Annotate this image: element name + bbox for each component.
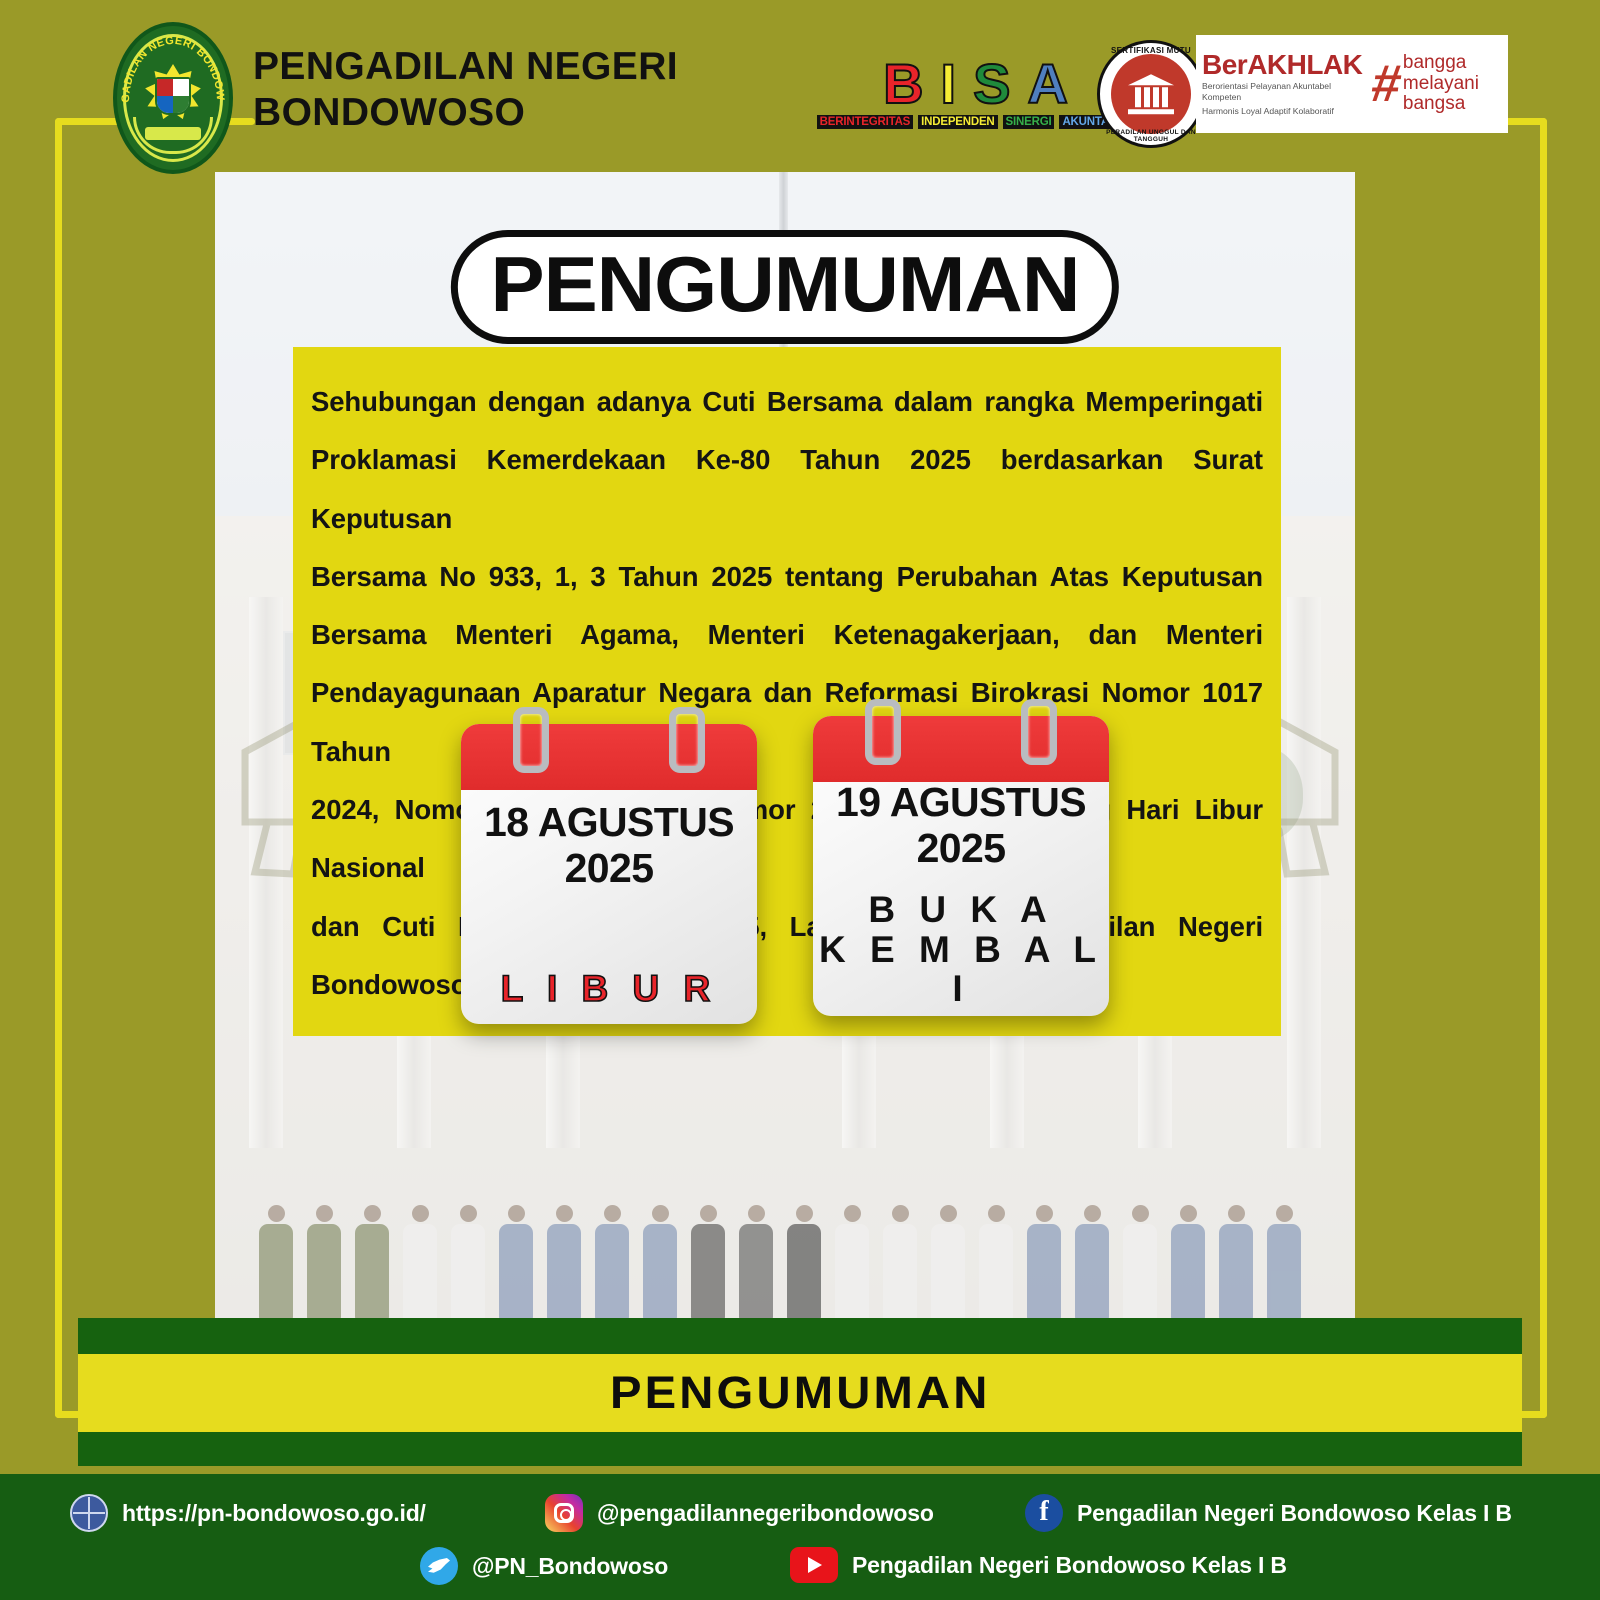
frame-edge-left <box>55 118 62 1418</box>
youtube-name: Pengadilan Negeri Bondowoso Kelas I B <box>852 1552 1287 1579</box>
banner-label: PENGUMUMAN <box>610 1367 991 1419</box>
bottom-banner: PENGUMUMAN <box>78 1318 1522 1466</box>
page-title: PENGADILAN NEGERI BONDOWOSO <box>253 44 678 135</box>
facebook-icon: f <box>1025 1494 1063 1532</box>
bisa-letter-a: A <box>1027 56 1067 112</box>
footer-youtube[interactable]: Pengadilan Negeri Bondowoso Kelas I B <box>790 1547 1287 1583</box>
social-footer: https://pn-bondowoso.go.id/ @pengadilann… <box>0 1474 1600 1600</box>
facebook-name: Pengadilan Negeri Bondowoso Kelas I B <box>1077 1500 1512 1527</box>
calendar-header-red <box>461 724 757 790</box>
org-name-line2: BONDOWOSO <box>253 90 678 136</box>
footer-twitter[interactable]: @PN_Bondowoso <box>420 1547 668 1585</box>
berakhlak-title: BerAKHLAK <box>1202 51 1372 79</box>
twitter-icon <box>420 1547 458 1585</box>
berakhlak-tagline2: melayani <box>1403 74 1479 95</box>
courthouse-icon <box>1128 74 1174 112</box>
calendar-group: 18 AGUSTUS 2025 L I B U R 19 AGUSTUS 202… <box>215 724 1355 1054</box>
footer-facebook[interactable]: f Pengadilan Negeri Bondowoso Kelas I B <box>1025 1494 1512 1532</box>
berakhlak-tagline1: bangga <box>1403 53 1479 74</box>
calendar-2-status-line1: B U K A <box>813 890 1109 929</box>
instagram-icon <box>545 1494 583 1532</box>
twitter-handle: @PN_Bondowoso <box>472 1553 668 1580</box>
bisa-letter-i: I <box>941 56 957 112</box>
bisa-value-independen: INDEPENDEN <box>918 115 997 129</box>
footer-instagram[interactable]: @pengadilannegeribondowoso <box>545 1494 934 1532</box>
court-crest-icon: PENGADILAN NEGERI BONDOWOSO <box>113 22 233 174</box>
berakhlak-logo: BerAKHLAK Berorientasi Pelayanan Akuntab… <box>1196 35 1508 133</box>
bisa-value-sinergi: SINERGI <box>1003 115 1055 129</box>
calendar-ring-right-icon <box>669 707 705 773</box>
website-url: https://pn-bondowoso.go.id/ <box>122 1500 426 1527</box>
youtube-icon <box>790 1547 838 1583</box>
body-line-2: Proklamasi Kemerdekaan Ke-80 Tahun 2025 … <box>311 431 1263 548</box>
calendar-card-libur: 18 AGUSTUS 2025 L I B U R <box>461 724 757 1024</box>
frame-edge-right <box>1540 118 1547 1418</box>
sertifikasi-mutu-logo: SERTIFIKASI MUTU PERADILAN UNGGUL DAN TA… <box>1097 40 1205 148</box>
globe-icon <box>70 1494 108 1532</box>
calendar-ring-left-icon <box>513 707 549 773</box>
announcement-title-pill: PENGUMUMAN <box>451 230 1119 344</box>
body-line-3: Bersama No 933, 1, 3 Tahun 2025 tentang … <box>311 548 1263 606</box>
banner-label-bar: PENGUMUMAN <box>78 1354 1522 1432</box>
bisa-value-berintegritas: BERINTEGRITAS <box>817 115 913 129</box>
body-line-1: Sehubungan dengan adanya Cuti Bersama da… <box>311 373 1263 431</box>
calendar-ring-left-icon <box>865 699 901 765</box>
calendar-ring-right-icon <box>1021 699 1057 765</box>
calendar-2-year: 2025 <box>813 826 1109 872</box>
bisa-letter-b: B <box>883 56 923 112</box>
calendar-1-date: 18 AGUSTUS <box>461 800 757 846</box>
berakhlak-sub2: Harmonis Loyal Adaptif Kolaboratif <box>1202 106 1372 118</box>
page-header: PENGADILAN NEGERI BONDOWOSO PENGADILAN N… <box>0 0 1600 172</box>
calendar-header-red <box>813 716 1109 782</box>
body-line-4: Bersama Menteri Agama, Menteri Ketenagak… <box>311 606 1263 664</box>
calendar-2-date: 19 AGUSTUS <box>813 780 1109 826</box>
sertifikasi-bottom-text: PERADILAN UNGGUL DAN TANGGUH <box>1097 129 1205 143</box>
calendar-2-status-line2: K E M B A L I <box>813 930 1109 1008</box>
calendar-card-buka-kembali: 19 AGUSTUS 2025 B U K A K E M B A L I <box>813 716 1109 1016</box>
org-name-line1: PENGADILAN NEGERI <box>253 44 678 90</box>
staff-group-photo <box>215 1090 1355 1320</box>
footer-website[interactable]: https://pn-bondowoso.go.id/ <box>70 1494 426 1532</box>
berakhlak-tagline3: bangsa <box>1403 94 1479 115</box>
bisa-logo: B I S A BERINTEGRITAS INDEPENDEN SINERGI… <box>868 56 1083 129</box>
banner-stripe-bottom <box>78 1432 1522 1466</box>
calendar-1-status: L I B U R <box>461 969 757 1008</box>
instagram-handle: @pengadilannegeribondowoso <box>597 1500 934 1527</box>
bisa-letter-s: S <box>973 56 1010 112</box>
calendar-1-year: 2025 <box>461 846 757 892</box>
sertifikasi-top-text: SERTIFIKASI MUTU <box>1097 46 1205 55</box>
announcement-title-text: PENGUMUMAN <box>491 245 1080 323</box>
berakhlak-sub1: Berorientasi Pelayanan Akuntabel Kompete… <box>1202 81 1372 104</box>
banner-stripe-top <box>78 1318 1522 1354</box>
hashtag-icon: # <box>1369 61 1404 108</box>
announcement-poster: PENGUMUMAN Sehubungan dengan adanya Cuti… <box>215 172 1355 1320</box>
